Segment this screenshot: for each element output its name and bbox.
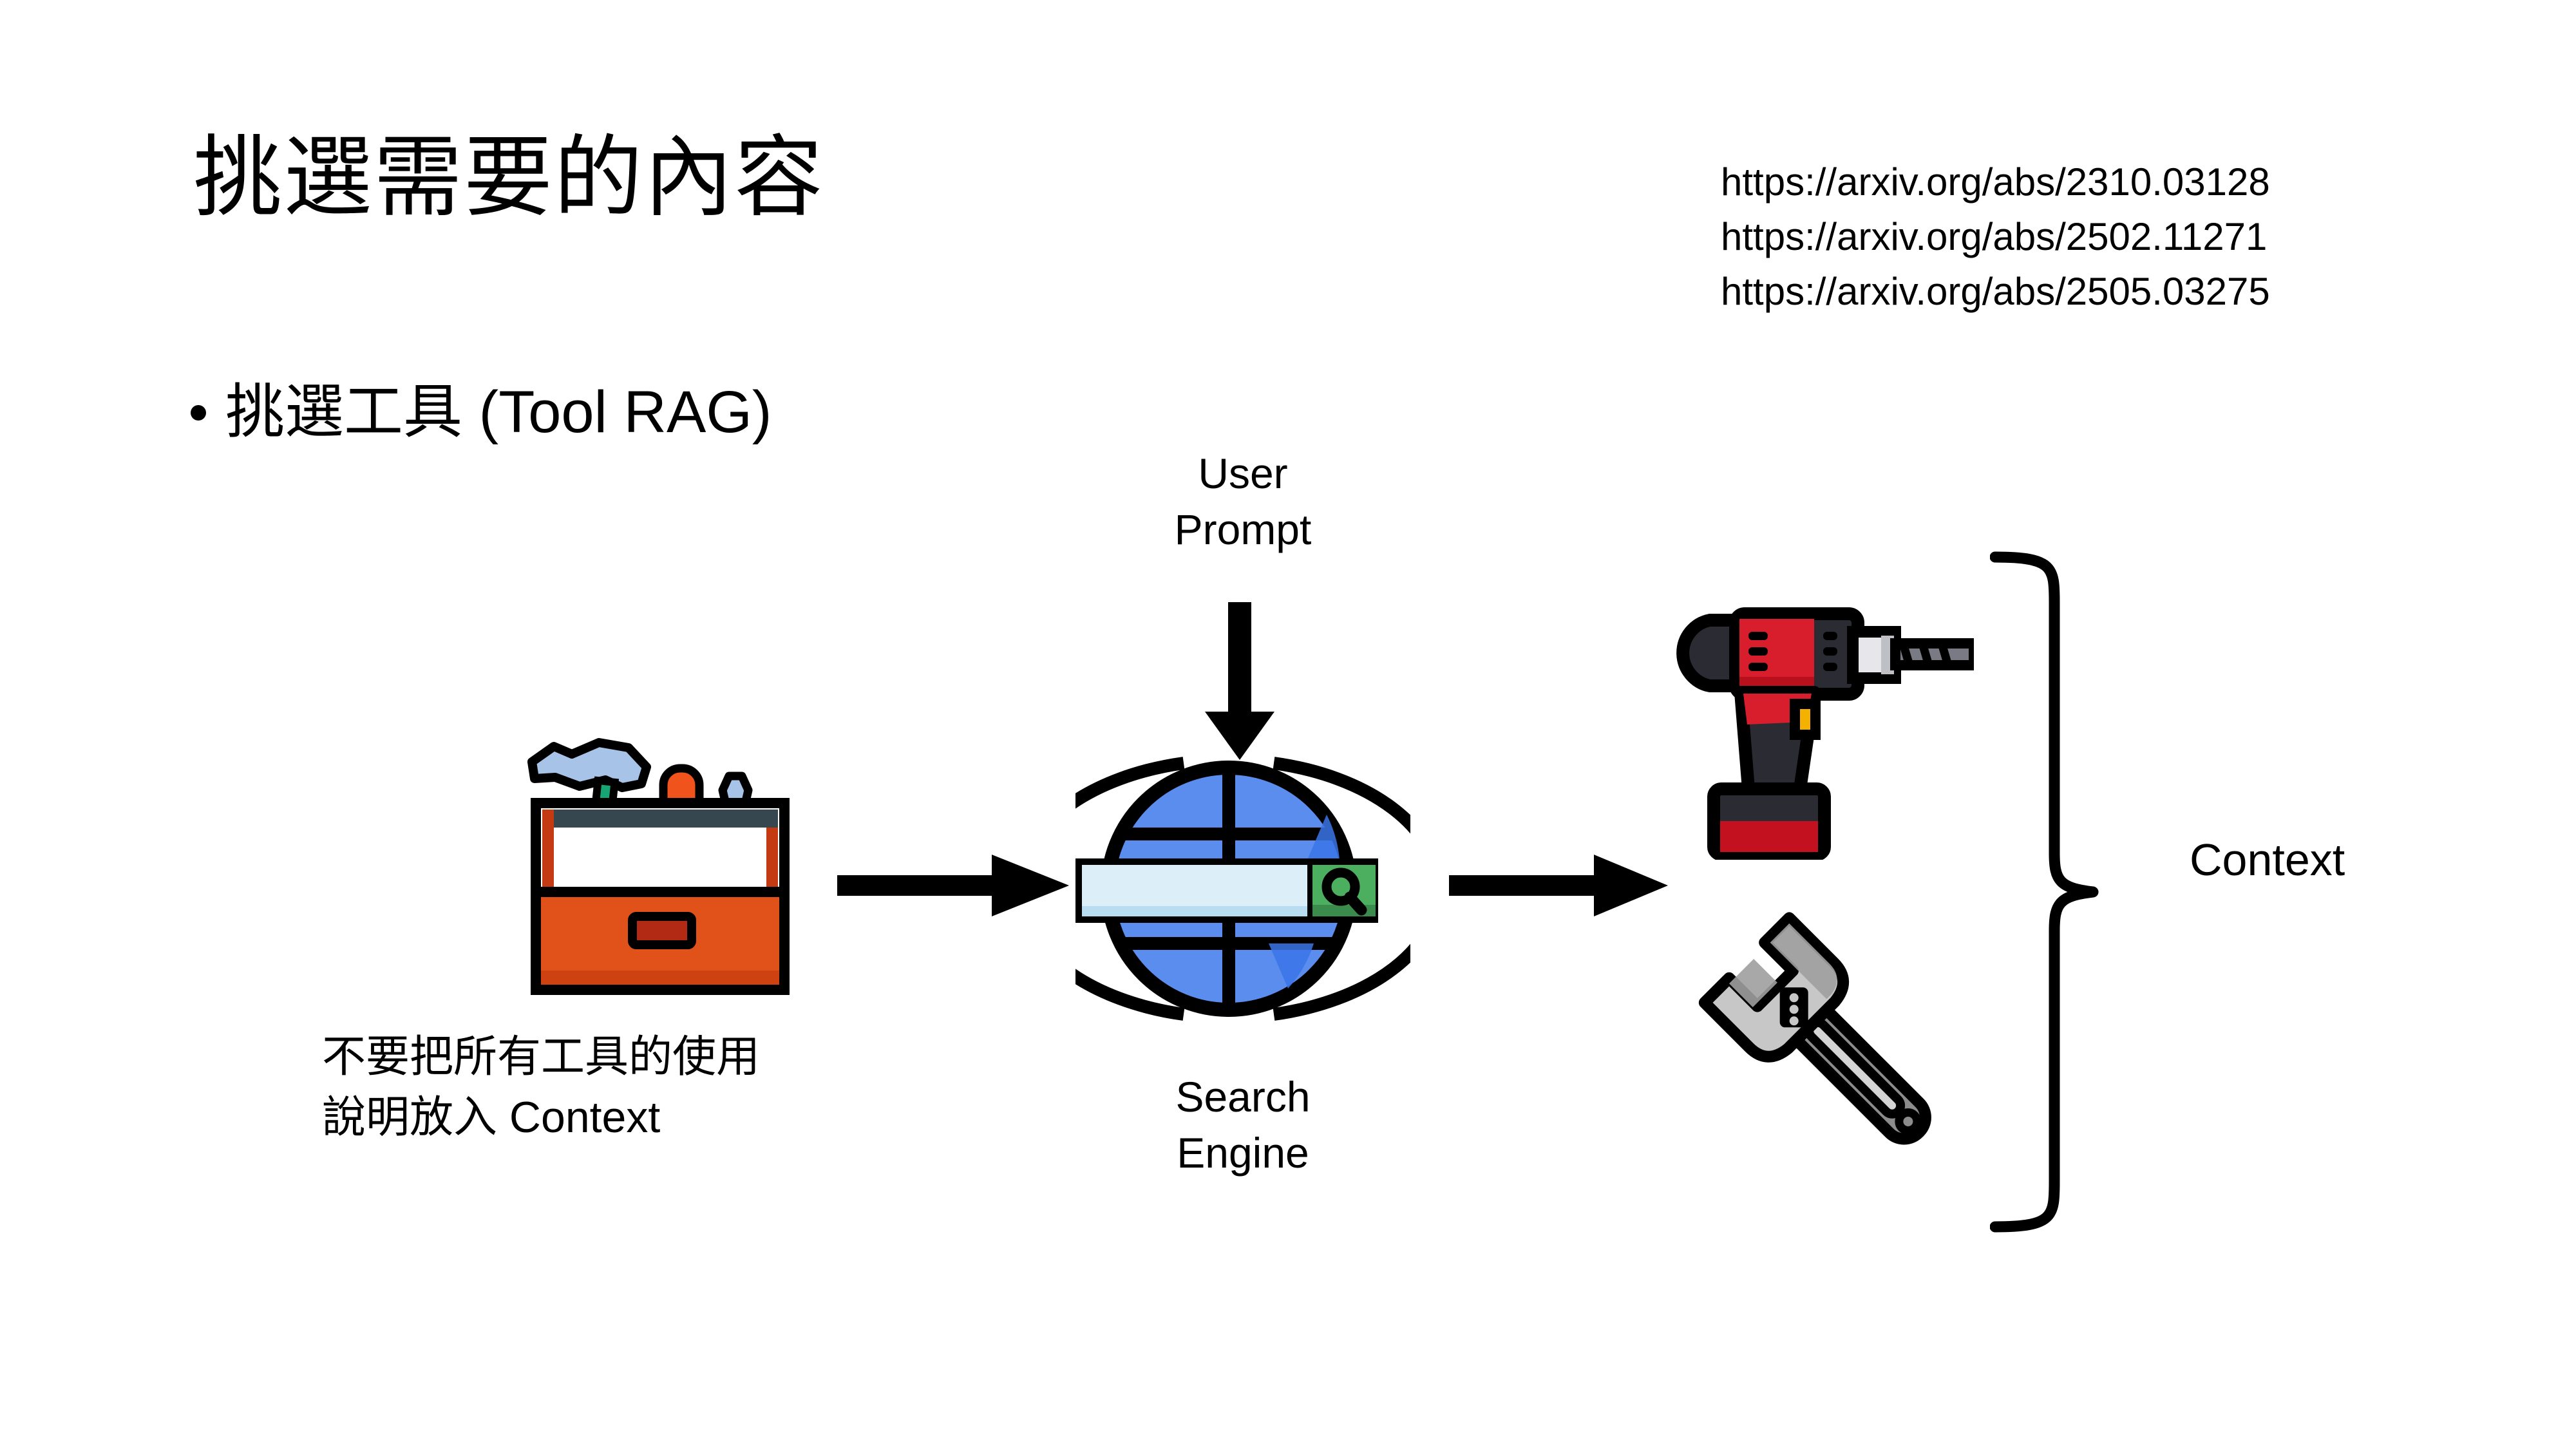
page-title: 挑選需要的內容 [193,126,824,231]
reference-link[interactable]: https://arxiv.org/abs/2310.03128 [1721,155,2270,209]
reference-link[interactable]: https://arxiv.org/abs/2505.03275 [1721,264,2270,319]
toolbox-caption-line1: 不要把所有工具的使用 [322,1027,1043,1088]
context-label: Context [2190,834,2345,885]
toolbox-caption-line2: 說明放入 Context [322,1088,1043,1148]
globe-search-icon [1075,750,1410,1027]
arrow-right-icon [1449,847,1668,924]
user-prompt-label-line1: User [1082,446,1404,502]
search-engine-label-line2: Engine [1082,1125,1404,1181]
drill-icon [1671,596,1974,860]
right-curly-brace [1990,551,2138,1233]
user-prompt-label: User Prompt [1082,446,1404,558]
bullet-item: 挑選工具 (Tool RAG) [191,380,772,445]
reference-link-list: https://arxiv.org/abs/2310.03128 https:/… [1721,155,2270,319]
search-engine-label-line1: Search [1082,1069,1404,1125]
toolbox-icon [509,731,811,1008]
wrench-icon [1658,885,1980,1182]
toolbox-caption: 不要把所有工具的使用 說明放入 Context [322,1027,1043,1148]
arrow-right-icon [837,847,1069,924]
user-prompt-label-line2: Prompt [1082,502,1404,558]
arrow-down-icon [1188,602,1304,760]
search-engine-label: Search Engine [1082,1069,1404,1181]
reference-link[interactable]: https://arxiv.org/abs/2502.11271 [1721,209,2270,264]
search-bar-glyph [1075,858,1378,923]
bullet-item-label: 挑選工具 (Tool RAG) [225,380,772,445]
bullet-dot-icon [191,405,206,421]
